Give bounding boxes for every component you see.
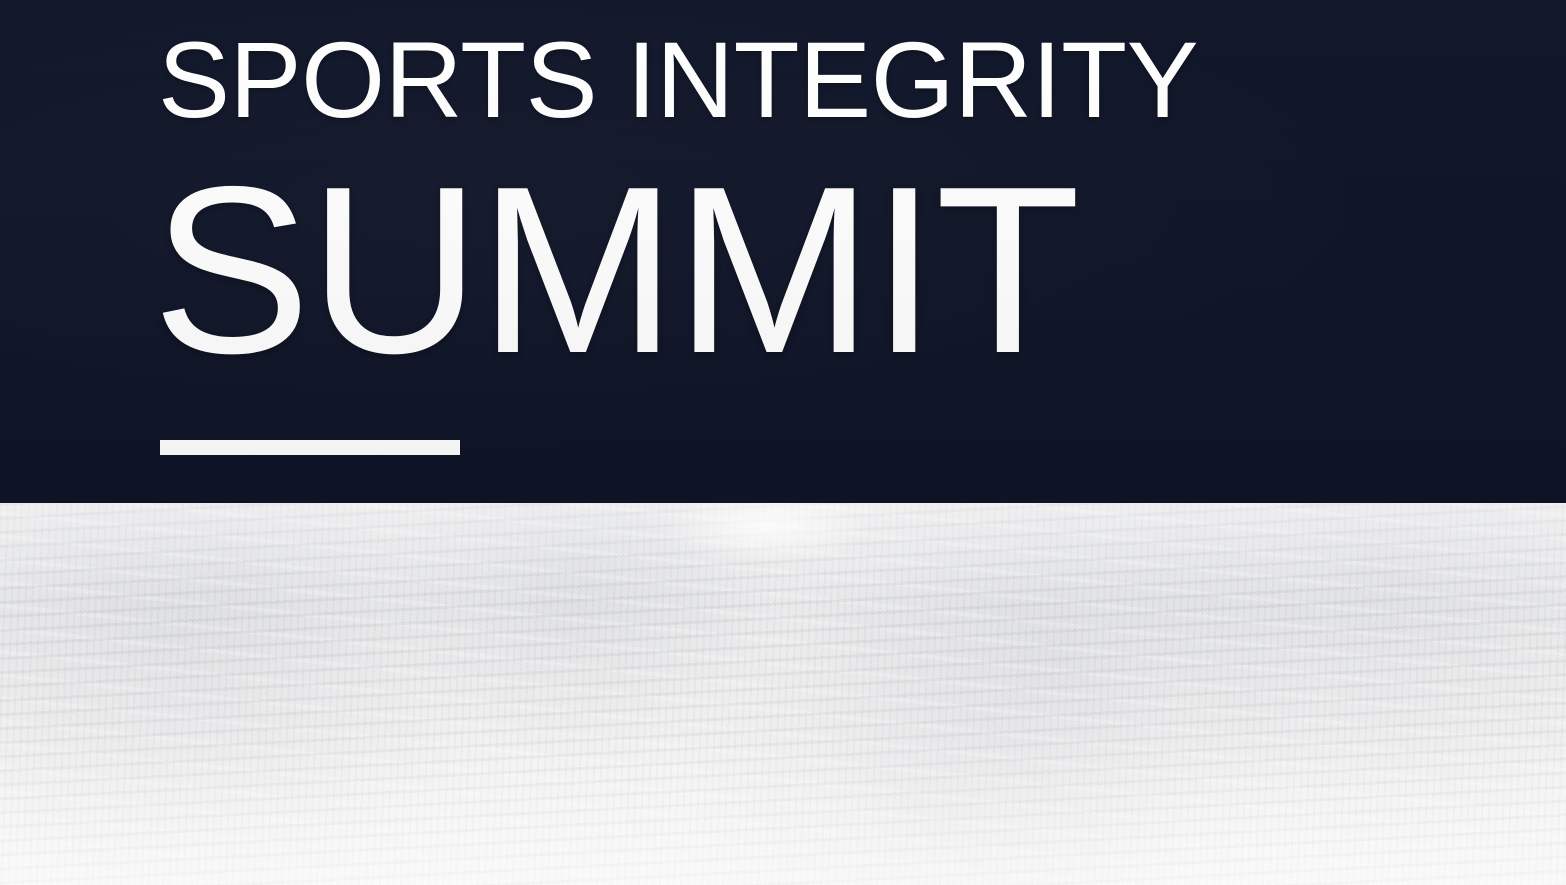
stadium-background-image: [0, 503, 1566, 885]
divider-rule: [160, 440, 460, 455]
page-title-line-1: SPORTS INTEGRITY: [158, 26, 1198, 134]
page-title-line-2: SUMMIT: [152, 152, 1079, 390]
summit-poster: SPORTS INTEGRITY SUMMIT THURSDAY 11TH MA…: [0, 0, 1566, 885]
hero-banner: SPORTS INTEGRITY SUMMIT: [0, 0, 1566, 503]
info-band: THURSDAY 11TH MAY Auditório Ministro Moz…: [0, 503, 1566, 885]
